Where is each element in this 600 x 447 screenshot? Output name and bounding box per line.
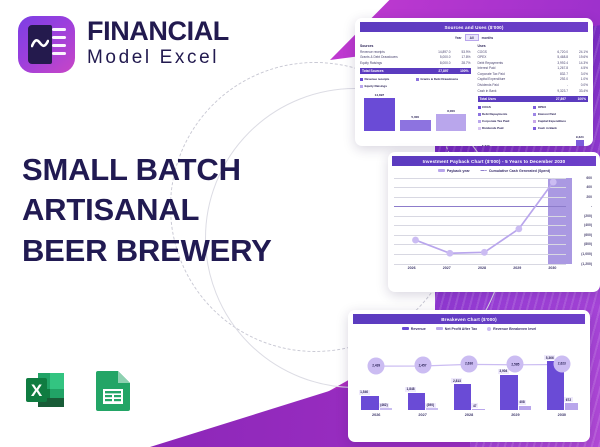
breakeven-plot-area: 1,540(462)2,4391,848(390)2,4572,813472,6… xyxy=(353,336,585,410)
sources-label: Equity Raisings xyxy=(360,61,425,67)
uses-legend-item: Corporate Tax Paid xyxy=(478,119,529,123)
legend-swatch-revenue xyxy=(402,327,409,330)
npat-bar-label: 47 xyxy=(471,403,478,408)
logo-wave-icon xyxy=(31,38,49,50)
brand-name-primary: FINANCIAL xyxy=(87,18,229,45)
uses-total-value: 27,897 xyxy=(540,97,566,101)
legend-swatch xyxy=(360,85,363,88)
legend-swatch xyxy=(533,113,536,116)
brand-logo: FINANCIAL Model Excel xyxy=(18,16,229,73)
uses-legend-item: Dividends Paid xyxy=(478,126,529,130)
sources-bar-label: 5,000 xyxy=(411,115,419,119)
breakeven-level-bubble: 2,457 xyxy=(414,357,431,374)
sources-bar-chart: 14,8975,0008,000 xyxy=(360,91,471,131)
headline-line-3: BEER BREWERY xyxy=(22,231,272,271)
sources-uses-tables: Sources Revenue receipts14,897.053.9%Gra… xyxy=(360,44,588,146)
sources-bar-label: 14,897 xyxy=(375,93,384,97)
legend-swatch xyxy=(478,106,481,109)
legend-swatch xyxy=(533,106,536,109)
uses-legend-item: Debt Repayments xyxy=(478,112,529,116)
breakeven-legend: Revenue Net Profit After Tax Revenue Bre… xyxy=(353,324,585,332)
sources-total-label: Total Sources xyxy=(362,69,423,73)
uses-bar-group: - xyxy=(562,133,570,146)
legend-swatch xyxy=(533,127,536,130)
sources-total-value: 27,897 xyxy=(423,69,449,73)
legend-revenue: Revenue xyxy=(402,327,426,331)
legend-breakeven-level: Revenue Breakeven level xyxy=(487,327,536,331)
payback-plot-area: 600400200-(200)(400)(600)(800)(1,000)(1,… xyxy=(394,178,592,264)
sources-uses-filter-row[interactable]: Year All months xyxy=(360,34,588,41)
legend-text: Interest Paid xyxy=(538,112,556,116)
filter-label-months: months xyxy=(482,36,494,40)
sources-legend-item: Revenue receipts xyxy=(360,77,411,81)
revenue-bar xyxy=(361,396,379,410)
investment-payback-card[interactable]: Investment Payback Chart ($'000) - 5 Yea… xyxy=(388,152,600,292)
uses-legend-item: COGS xyxy=(478,105,529,109)
uses-bar-group: 3,992 xyxy=(508,133,516,146)
sources-uses-title: Sources and Uses ($'000) xyxy=(360,22,588,32)
uses-legend-item: Interest Paid xyxy=(533,112,584,116)
google-sheets-icon xyxy=(90,367,136,413)
payback-chart-title: Investment Payback Chart ($'000) - 5 Yea… xyxy=(392,156,596,166)
legend-swatch xyxy=(478,120,481,123)
legend-text: Grants & Debt Drawdowns xyxy=(420,77,458,81)
sources-bar-group: 14,897 xyxy=(364,91,395,131)
sources-value: 8,000.0 xyxy=(425,61,451,67)
uses-table: Uses COGS6,720.024.1%OPEX5,468.819.6%Deb… xyxy=(478,44,589,146)
excel-icon: X xyxy=(24,367,70,413)
uses-legend-item: Cash in Bank xyxy=(533,126,584,130)
sources-table: Sources Revenue receipts14,897.053.9%Gra… xyxy=(360,44,471,146)
svg-text:X: X xyxy=(31,381,43,400)
legend-label-breakeven: Revenue Breakeven level xyxy=(493,327,536,331)
sources-total-row: Total Sources 27,897 100% xyxy=(360,68,471,74)
uses-bar-group: 833 xyxy=(535,133,543,146)
legend-payback-year: Payback year xyxy=(438,169,470,173)
filter-label-year: Year xyxy=(455,36,462,40)
legend-npat: Net Profit After Tax xyxy=(436,327,477,331)
breakeven-x-tick: 2029 xyxy=(492,413,538,417)
legend-swatch xyxy=(478,127,481,130)
uses-bar-group: 9,324 xyxy=(576,133,584,146)
revenue-bar xyxy=(500,375,518,410)
legend-swatch-payback xyxy=(438,169,445,172)
npat-bar-label: 408 xyxy=(518,400,526,405)
payback-line-series xyxy=(394,178,592,270)
sources-row: Equity Raisings8,000.028.7% xyxy=(360,61,471,67)
uses-label: Cash in Bank xyxy=(478,89,543,95)
npat-bar-label: 672 xyxy=(564,397,572,402)
legend-text: Capital Expenditure xyxy=(538,119,566,123)
breakeven-x-axis: 20262027202820292030 xyxy=(353,413,585,417)
legend-text: Dividends Paid xyxy=(482,126,504,130)
uses-legend-item: OPEX xyxy=(533,105,584,109)
npat-bar xyxy=(565,403,578,409)
uses-bar-group: 6,720 xyxy=(482,133,490,146)
legend-label-revenue: Revenue xyxy=(411,327,426,331)
uses-pct: 33.4% xyxy=(568,89,588,95)
headline-line-1: SMALL BATCH xyxy=(22,150,272,190)
uses-bar-group: 1,268 xyxy=(522,133,530,146)
uses-bar-group: 5,469 xyxy=(495,133,503,146)
brand-text: FINANCIAL Model Excel xyxy=(87,18,229,71)
sources-heading: Sources xyxy=(360,44,471,48)
sources-bar-label: 8,000 xyxy=(447,109,455,113)
breakeven-x-tick: 2027 xyxy=(399,413,445,417)
breakeven-level-bubble: 2,636 xyxy=(461,355,478,372)
breakeven-x-tick: 2026 xyxy=(353,413,399,417)
uses-value: 9,323.7 xyxy=(542,89,568,95)
legend-text: Equity Raisings xyxy=(365,84,388,88)
sources-pct: 28.7% xyxy=(451,61,471,67)
headline-line-2: ARTISANAL xyxy=(22,190,272,230)
brand-name-secondary: Model Excel xyxy=(87,45,229,71)
legend-swatch xyxy=(360,78,363,81)
uses-legend: COGSOPEXDebt RepaymentsInterest PaidCorp… xyxy=(478,105,589,130)
legend-swatch-breakeven xyxy=(487,327,491,331)
poster-canvas: FINANCIAL Model Excel SMALL BATCH ARTISA… xyxy=(0,0,600,447)
sources-legend-item: Equity Raisings xyxy=(360,84,411,88)
npat-bar xyxy=(519,406,532,410)
breakeven-card[interactable]: Breakeven Chart ($'000) Revenue Net Prof… xyxy=(348,310,590,442)
legend-label-npat: Net Profit After Tax xyxy=(445,327,477,331)
sources-bar xyxy=(364,98,395,131)
npat-bar xyxy=(426,408,439,410)
uses-row: Cash in Bank9,323.733.4% xyxy=(478,89,589,95)
legend-swatch-npat xyxy=(436,327,443,330)
uses-bar-chart: 6,7205,4693,9921,268833292-9,324 xyxy=(478,133,589,146)
npat-bar xyxy=(380,408,393,410)
uses-bar xyxy=(576,140,584,146)
breakeven-chart-title: Breakeven Chart ($'000) xyxy=(353,314,585,324)
page-title: SMALL BATCH ARTISANAL BEER BREWERY xyxy=(22,150,272,271)
sources-legend-item: Grants & Debt Drawdowns xyxy=(416,77,467,81)
npat-bar-label: (462) xyxy=(379,403,389,408)
sources-legend: Revenue receiptsGrants & Debt DrawdownsE… xyxy=(360,77,471,88)
uses-total-label: Total Uses xyxy=(480,97,541,101)
revenue-bar xyxy=(454,384,472,409)
breakeven-level-bubble: 2,585 xyxy=(507,356,524,373)
legend-label-payback: Payback year xyxy=(447,169,470,173)
uses-bar-label: 9,324 xyxy=(576,135,584,139)
sources-total-pct: 100% xyxy=(449,69,469,73)
uses-total-row: Total Uses 27,897 100% xyxy=(478,96,589,102)
breakeven-x-tick: 2028 xyxy=(446,413,492,417)
sources-bar xyxy=(436,114,467,132)
revenue-bar-label: 2,813 xyxy=(451,378,462,383)
logo-list-lines xyxy=(52,28,66,61)
legend-text: Cash in Bank xyxy=(538,126,557,130)
breakeven-level-bubble: 2,623 xyxy=(553,355,570,372)
uses-total-pct: 100% xyxy=(566,97,586,101)
legend-text: Corporate Tax Paid xyxy=(482,119,509,123)
legend-swatch xyxy=(416,78,419,81)
logo-document-shape xyxy=(28,25,52,64)
payback-legend: Payback year Cumulative Cash Generated (… xyxy=(392,166,596,174)
filter-value-dropdown[interactable]: All xyxy=(465,34,479,41)
sources-bar xyxy=(400,120,431,131)
legend-text: Debt Repayments xyxy=(482,112,507,116)
revenue-bar-label: 1,848 xyxy=(405,387,416,392)
breakeven-level-bubble: 2,439 xyxy=(368,357,385,374)
legend-swatch xyxy=(533,120,536,123)
sources-and-uses-card[interactable]: Sources and Uses ($'000) Year All months… xyxy=(355,18,593,146)
revenue-bar xyxy=(408,393,426,410)
app-logo-icon xyxy=(18,16,75,73)
uses-bar-group: 292 xyxy=(549,133,557,146)
legend-cumulative-cash: Cumulative Cash Generated (Spent) xyxy=(480,169,550,173)
revenue-bar-label: 1,540 xyxy=(359,390,370,395)
uses-bar-label: 6,720 xyxy=(482,144,490,146)
legend-swatch xyxy=(478,113,481,116)
sources-bar-group: 8,000 xyxy=(436,91,467,131)
breakeven-x-tick: 2030 xyxy=(539,413,585,417)
sources-bar-group: 5,000 xyxy=(400,91,431,131)
legend-text: COGS xyxy=(482,105,491,109)
npat-bar-label: (390) xyxy=(425,403,435,408)
revenue-bar-label: 3,904 xyxy=(498,369,509,374)
uses-heading: Uses xyxy=(478,44,589,48)
legend-label-cumulative: Cumulative Cash Generated (Spent) xyxy=(489,169,550,173)
legend-swatch-cumulative xyxy=(480,170,487,171)
legend-text: OPEX xyxy=(538,105,546,109)
file-format-icons: X xyxy=(24,367,136,413)
legend-text: Revenue receipts xyxy=(365,77,390,81)
uses-legend-item: Capital Expenditure xyxy=(533,119,584,123)
